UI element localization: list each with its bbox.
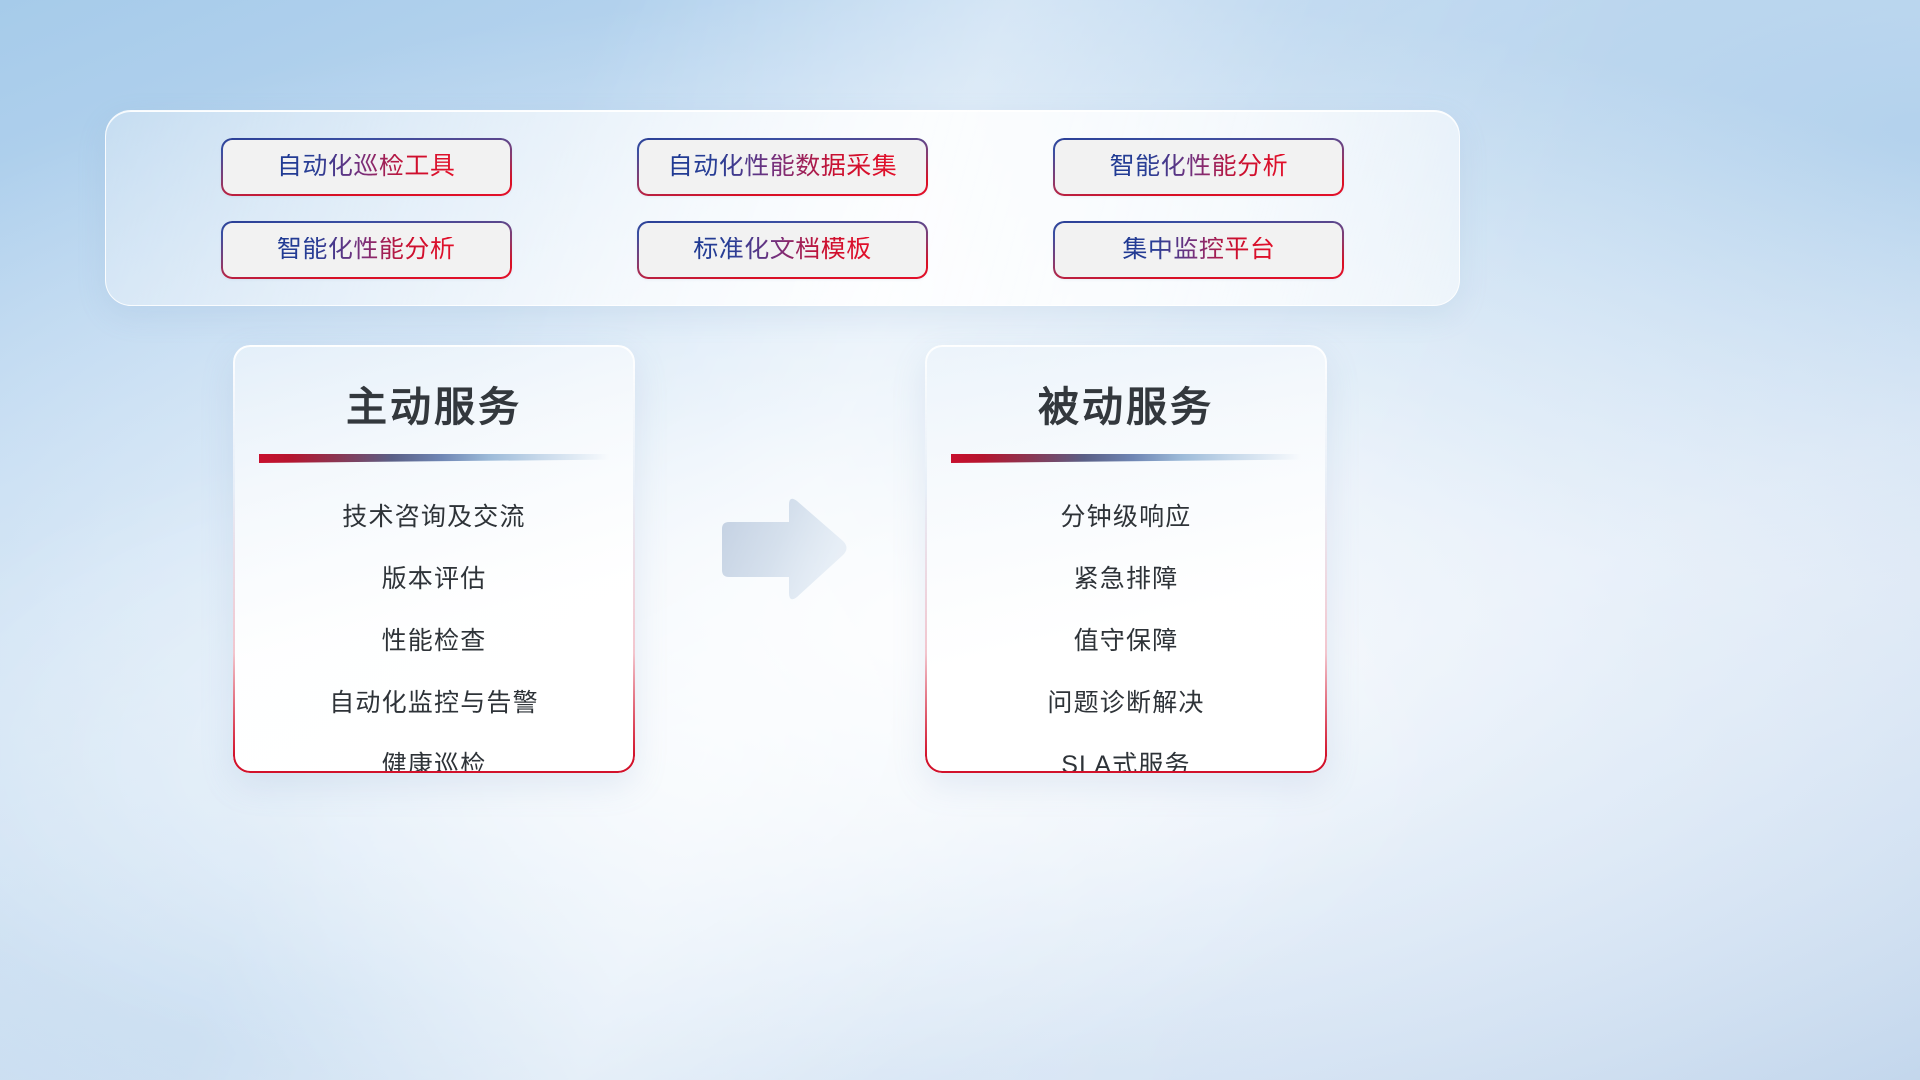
service-card-passive: 被动服务 分钟级响应 紧急排障 值守保障 问题诊断解决 SLA式服务 <box>925 345 1327 773</box>
capability-pill-label: 自动化巡检工具 <box>277 154 456 179</box>
capability-pill-label: 智能化性能分析 <box>277 237 456 262</box>
service-item-list: 分钟级响应 紧急排障 值守保障 问题诊断解决 SLA式服务 <box>925 497 1327 773</box>
service-item: 健康巡检 <box>251 745 617 773</box>
arrow-right-icon <box>714 493 850 606</box>
capability-pill[interactable]: 智能化性能分析 <box>1053 138 1344 196</box>
capability-pill-label: 标准化文档模板 <box>693 237 872 262</box>
service-item: 技术咨询及交流 <box>251 497 617 533</box>
service-item: 紧急排障 <box>943 559 1309 595</box>
service-card-title: 被动服务 <box>925 373 1327 433</box>
service-item: 问题诊断解决 <box>943 683 1309 719</box>
service-card-active: 主动服务 技术咨询及交流 版本评估 性能检查 自动化监控与告警 健康巡检 <box>233 345 635 773</box>
service-item-list: 技术咨询及交流 版本评估 性能检查 自动化监控与告警 健康巡检 <box>233 497 635 773</box>
capability-pill[interactable]: 自动化巡检工具 <box>221 138 512 196</box>
card-divider <box>259 454 609 463</box>
capability-pill[interactable]: 自动化性能数据采集 <box>637 138 928 196</box>
capability-pill-label: 自动化性能数据采集 <box>668 154 898 179</box>
service-item: 自动化监控与告警 <box>251 683 617 719</box>
service-item: 性能检查 <box>251 621 617 657</box>
service-item: SLA式服务 <box>943 745 1309 773</box>
capability-pill-label: 集中监控平台 <box>1122 237 1275 262</box>
service-item: 值守保障 <box>943 621 1309 657</box>
capability-pill[interactable]: 集中监控平台 <box>1053 221 1344 279</box>
service-card-title: 主动服务 <box>233 373 635 433</box>
service-item: 版本评估 <box>251 559 617 595</box>
service-item: 分钟级响应 <box>943 497 1309 533</box>
capability-pill[interactable]: 智能化性能分析 <box>221 221 512 279</box>
capabilities-grid: 自动化巡检工具 自动化性能数据采集 智能化性能分析 智能化性能分析 标准化文档模… <box>106 111 1459 305</box>
capability-pill-label: 智能化性能分析 <box>1110 154 1289 179</box>
capability-pill[interactable]: 标准化文档模板 <box>637 221 928 279</box>
capabilities-panel: 自动化巡检工具 自动化性能数据采集 智能化性能分析 智能化性能分析 标准化文档模… <box>105 110 1460 306</box>
card-divider <box>951 454 1301 463</box>
